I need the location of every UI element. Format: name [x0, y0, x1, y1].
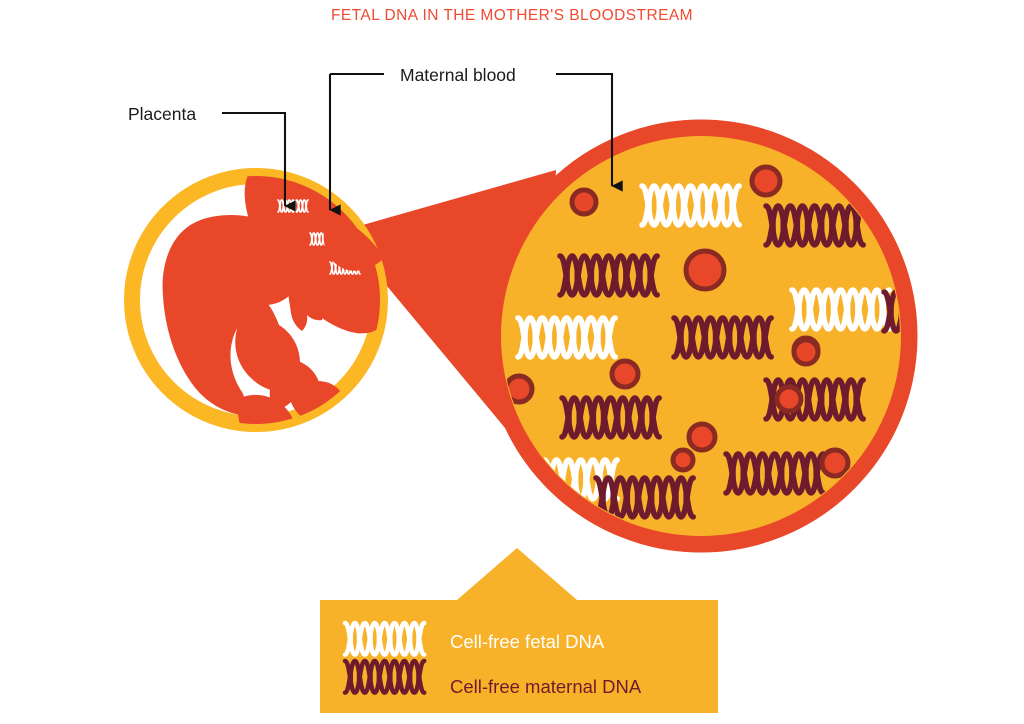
- diagram-canvas: FETAL DNA IN THE MOTHER'S BLOODSTREAM: [0, 0, 1024, 724]
- uterus-cross-section: [132, 137, 417, 449]
- page-title: FETAL DNA IN THE MOTHER'S BLOODSTREAM: [331, 7, 693, 24]
- legend-label-maternal: Cell-free maternal DNA: [450, 676, 642, 697]
- blood-sample-magnification: [493, 128, 981, 544]
- legend-label-fetal: Cell-free fetal DNA: [450, 631, 605, 652]
- label-placenta: Placenta: [128, 104, 196, 124]
- legend-panel: Cell-free fetal DNA Cell-free maternal D…: [320, 548, 718, 713]
- leader-line-maternal-left: [330, 74, 384, 210]
- label-maternal-blood: Maternal blood: [400, 65, 516, 85]
